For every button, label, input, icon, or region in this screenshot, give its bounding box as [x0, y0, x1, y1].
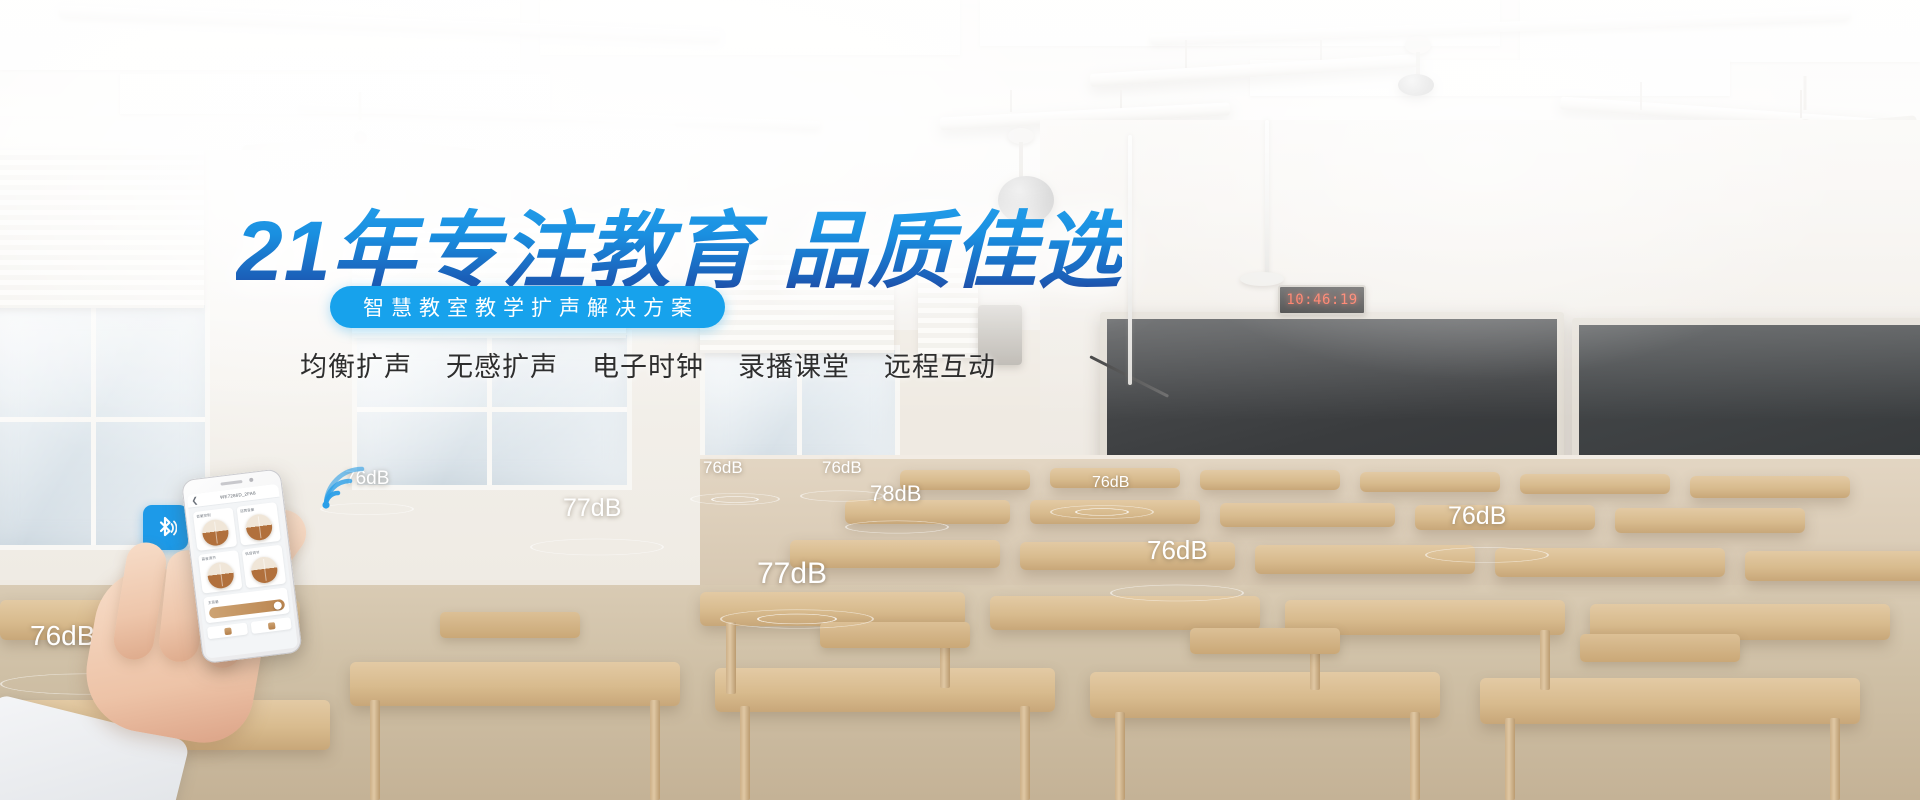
student-desk [1030, 500, 1200, 524]
phone-screen[interactable]: ❮ WE7286D_2FA8 音量控制话筒音量高音调节低音调节 主音量 [187, 484, 298, 659]
desk-leg [1410, 712, 1420, 800]
student-desk [700, 592, 965, 626]
headline-part-1: 21年专注教育 [236, 204, 756, 298]
feature-item: 远程互动 [884, 345, 996, 384]
fan-rod [359, 92, 362, 120]
chevron-left-icon[interactable]: ❮ [191, 496, 199, 505]
student-desk [1090, 672, 1440, 718]
control-card-label: 音量控制 [196, 511, 230, 520]
db-reading: 78dB [870, 481, 921, 507]
feature-item: 电子时钟 [592, 345, 704, 384]
desk-leg [1020, 706, 1030, 800]
db-reading: 76dB [1092, 474, 1129, 492]
control-card[interactable]: 音量控制 [193, 507, 237, 551]
ceiling-fan [230, 120, 490, 154]
chair [1580, 634, 1740, 662]
app-button[interactable] [251, 617, 292, 634]
feature-item: 录播课堂 [738, 345, 850, 384]
solution-badge: 智慧教室教学扩声解决方案 [330, 286, 725, 328]
rotary-knob[interactable] [201, 518, 230, 547]
db-reading: 76dB [822, 458, 862, 478]
db-reading: 76dB [1448, 502, 1506, 531]
student-desk [1745, 551, 1920, 581]
mic-stand [1128, 135, 1132, 385]
control-card[interactable]: 话筒音量 [236, 502, 280, 546]
db-reading: 76dB [703, 458, 743, 478]
db-reading: 76dB [1147, 535, 1208, 566]
mic-stand [1265, 120, 1269, 280]
rotary-knob[interactable] [250, 555, 279, 584]
student-desk [1520, 474, 1670, 494]
app-button[interactable] [207, 623, 248, 640]
db-reading: 77dB [757, 557, 827, 591]
feature-item: 无感扩声 [446, 345, 558, 384]
window-blind [0, 150, 204, 308]
rotary-knob[interactable] [245, 513, 274, 542]
student-desk [1615, 508, 1805, 533]
speaker-stem [1019, 142, 1023, 178]
phone-earpiece [220, 480, 242, 486]
ceiling-speaker [1398, 74, 1434, 96]
light-rod [1010, 90, 1012, 112]
desk-leg [1115, 712, 1125, 800]
wainscot-trim [700, 455, 1920, 459]
rotary-knob[interactable] [206, 561, 235, 590]
control-card-grid: 音量控制话筒音量高音调节低音调节 [188, 498, 290, 599]
light-rod [1185, 40, 1187, 68]
student-desk [1690, 476, 1850, 498]
student-desk [715, 668, 1055, 712]
feature-item: 均衡扩声 [300, 345, 412, 384]
control-card-label: 高音调节 [201, 553, 235, 562]
button-glyph-icon [267, 622, 275, 630]
fan-hub [354, 131, 367, 144]
hero-banner: 10:46:19 [0, 0, 1920, 800]
light-rod [1640, 82, 1642, 110]
desk-leg [740, 706, 750, 800]
phone-front-camera [249, 478, 253, 482]
ceiling-panel [1520, 0, 1920, 62]
control-card-label: 话筒音量 [240, 505, 274, 514]
desk-leg [726, 622, 736, 694]
student-desk [1480, 678, 1860, 724]
desk-leg [1540, 630, 1550, 690]
student-desk [1200, 470, 1340, 490]
db-reading: 77dB [563, 494, 621, 523]
wifi-waves-icon [318, 455, 378, 513]
button-glyph-icon [224, 627, 232, 635]
clock-time: 10:46:19 [1286, 292, 1357, 308]
chair [440, 612, 580, 638]
desk-leg [1830, 718, 1840, 800]
speaker-mount [1240, 272, 1284, 286]
volume-slider-handle[interactable] [273, 601, 282, 610]
desk-leg [1505, 718, 1515, 800]
solution-badge-label: 智慧教室教学扩声解决方案 [356, 292, 699, 322]
student-desk [1255, 545, 1475, 574]
chair [820, 622, 970, 648]
headline-part-2: 品质佳选 [782, 204, 1122, 298]
fan-rod [1804, 76, 1807, 110]
student-desk [1495, 548, 1725, 577]
control-card-label: 低音调节 [245, 548, 279, 557]
student-desk [1220, 503, 1395, 527]
chair [1190, 628, 1340, 654]
feature-list: 均衡扩声无感扩声电子时钟录播课堂远程互动 [300, 345, 996, 384]
student-desk [1360, 472, 1500, 492]
digital-clock: 10:46:19 [1278, 285, 1366, 315]
control-card[interactable]: 低音调节 [242, 545, 286, 589]
student-desk [990, 596, 1260, 630]
desk-leg [650, 700, 660, 800]
control-card[interactable]: 高音调节 [198, 550, 242, 594]
